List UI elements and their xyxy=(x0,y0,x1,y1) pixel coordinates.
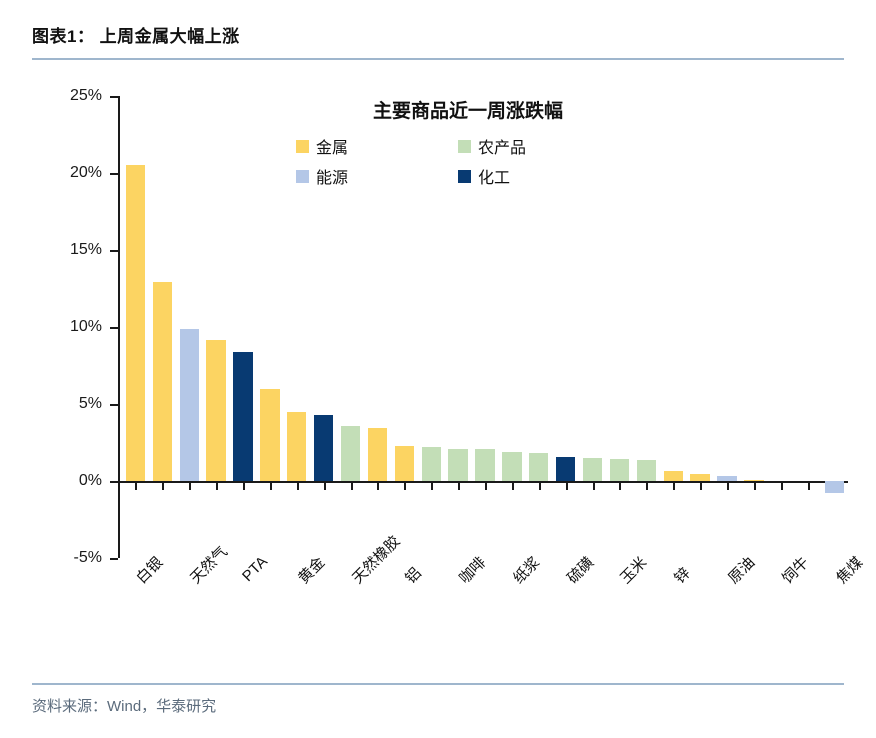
x-axis-tick xyxy=(297,483,299,490)
y-axis-tick-label: 0% xyxy=(44,472,102,490)
x-axis-label: 黄金 xyxy=(293,552,329,588)
y-axis-tick xyxy=(110,173,118,175)
bar[interactable] xyxy=(583,458,602,481)
x-axis-tick xyxy=(485,483,487,490)
x-axis-label: 原油 xyxy=(723,552,759,588)
x-axis-tick xyxy=(404,483,406,490)
bar[interactable] xyxy=(690,474,709,481)
y-axis-tick-label: 10% xyxy=(44,318,102,336)
bar[interactable] xyxy=(395,446,414,481)
x-axis-tick xyxy=(243,483,245,490)
bar[interactable] xyxy=(206,340,225,481)
x-axis-tick xyxy=(673,483,675,490)
zero-baseline xyxy=(118,481,848,483)
y-axis-tick-label: 15% xyxy=(44,241,102,259)
bar[interactable] xyxy=(287,412,306,481)
y-axis-tick xyxy=(110,96,118,98)
x-axis-tick xyxy=(135,483,137,490)
x-axis-label: 天然橡胶 xyxy=(347,531,404,588)
bar[interactable] xyxy=(744,480,763,481)
bar[interactable] xyxy=(153,282,172,481)
legend-label: 金属 xyxy=(316,134,348,158)
x-axis-tick xyxy=(593,483,595,490)
x-axis-label: 白银 xyxy=(131,552,167,588)
bar[interactable] xyxy=(422,447,441,481)
x-axis-tick xyxy=(619,483,621,490)
bar[interactable] xyxy=(260,389,279,481)
legend-item-4[interactable]: 化工 xyxy=(458,164,596,188)
chart-plot-area: 主要商品近一周涨跌幅 金属农产品能源化工 25%20%15%10%5%0%-5%… xyxy=(0,0,876,680)
x-axis-tick xyxy=(539,483,541,490)
x-axis-tick xyxy=(162,483,164,490)
bar[interactable] xyxy=(529,453,548,481)
bar[interactable] xyxy=(717,476,736,481)
x-axis-tick xyxy=(270,483,272,490)
x-axis-tick xyxy=(431,483,433,490)
chart-title: 主要商品近一周涨跌幅 xyxy=(0,96,876,123)
bar[interactable] xyxy=(368,428,387,481)
y-axis-tick-label: -5% xyxy=(44,549,102,567)
x-axis-tick xyxy=(216,483,218,490)
x-axis-label: PTA xyxy=(239,553,271,585)
bar[interactable] xyxy=(180,329,199,481)
x-axis-tick xyxy=(808,483,810,490)
x-axis-tick xyxy=(646,483,648,490)
y-axis-tick xyxy=(110,327,118,329)
legend-item-1[interactable]: 金属 xyxy=(296,134,418,158)
chart-page: 图表1： 上周金属大幅上涨 主要商品近一周涨跌幅 金属农产品能源化工 25%20… xyxy=(0,0,876,738)
bar[interactable] xyxy=(502,452,521,481)
x-axis-label: 纸浆 xyxy=(508,552,544,588)
bar[interactable] xyxy=(475,449,494,481)
legend-swatch-icon xyxy=(296,170,309,183)
footer-divider xyxy=(32,683,844,685)
x-axis-label: 咖啡 xyxy=(454,552,490,588)
legend-swatch-icon xyxy=(458,170,471,183)
x-axis-tick xyxy=(377,483,379,490)
x-axis-tick xyxy=(351,483,353,490)
bar[interactable] xyxy=(664,471,683,481)
y-axis-tick xyxy=(110,481,118,483)
x-axis-tick xyxy=(324,483,326,490)
legend-swatch-icon xyxy=(296,140,309,153)
bar[interactable] xyxy=(637,460,656,481)
legend-item-3[interactable]: 能源 xyxy=(296,164,418,188)
x-axis-tick xyxy=(781,483,783,490)
source-note: 资料来源：Wind，华泰研究 xyxy=(32,695,216,716)
x-axis-tick xyxy=(754,483,756,490)
y-axis-tick-label: 20% xyxy=(44,164,102,182)
y-axis-tick xyxy=(110,404,118,406)
x-axis-tick xyxy=(189,483,191,490)
x-axis-label: 焦煤 xyxy=(831,552,867,588)
x-axis-tick xyxy=(458,483,460,490)
x-axis-tick xyxy=(700,483,702,490)
x-axis-tick xyxy=(727,483,729,490)
x-axis-label: 天然气 xyxy=(185,541,232,588)
x-axis-label: 饲牛 xyxy=(777,552,813,588)
x-axis-label: 锌 xyxy=(669,562,694,587)
bar[interactable] xyxy=(314,415,333,481)
y-axis-tick-label: 25% xyxy=(44,87,102,105)
y-axis-tick xyxy=(110,558,118,560)
x-axis-tick xyxy=(566,483,568,490)
bar[interactable] xyxy=(448,449,467,481)
bar[interactable] xyxy=(341,426,360,481)
bar[interactable] xyxy=(556,457,575,481)
bar[interactable] xyxy=(126,165,145,481)
x-axis-label: 硫磺 xyxy=(562,552,598,588)
legend-label: 能源 xyxy=(316,164,348,188)
chart-legend: 金属农产品能源化工 xyxy=(296,134,596,188)
y-axis-tick xyxy=(110,250,118,252)
legend-label: 化工 xyxy=(478,164,510,188)
bar[interactable] xyxy=(610,459,629,481)
legend-item-2[interactable]: 农产品 xyxy=(458,134,596,158)
x-axis-tick xyxy=(512,483,514,490)
x-axis-label: 铝 xyxy=(400,562,425,587)
legend-swatch-icon xyxy=(458,140,471,153)
bar[interactable] xyxy=(233,352,252,481)
bar[interactable] xyxy=(825,481,844,493)
x-axis-label: 玉米 xyxy=(615,552,651,588)
legend-label: 农产品 xyxy=(478,134,526,158)
y-axis-line-lower xyxy=(118,481,120,558)
y-axis-tick-label: 5% xyxy=(44,395,102,413)
